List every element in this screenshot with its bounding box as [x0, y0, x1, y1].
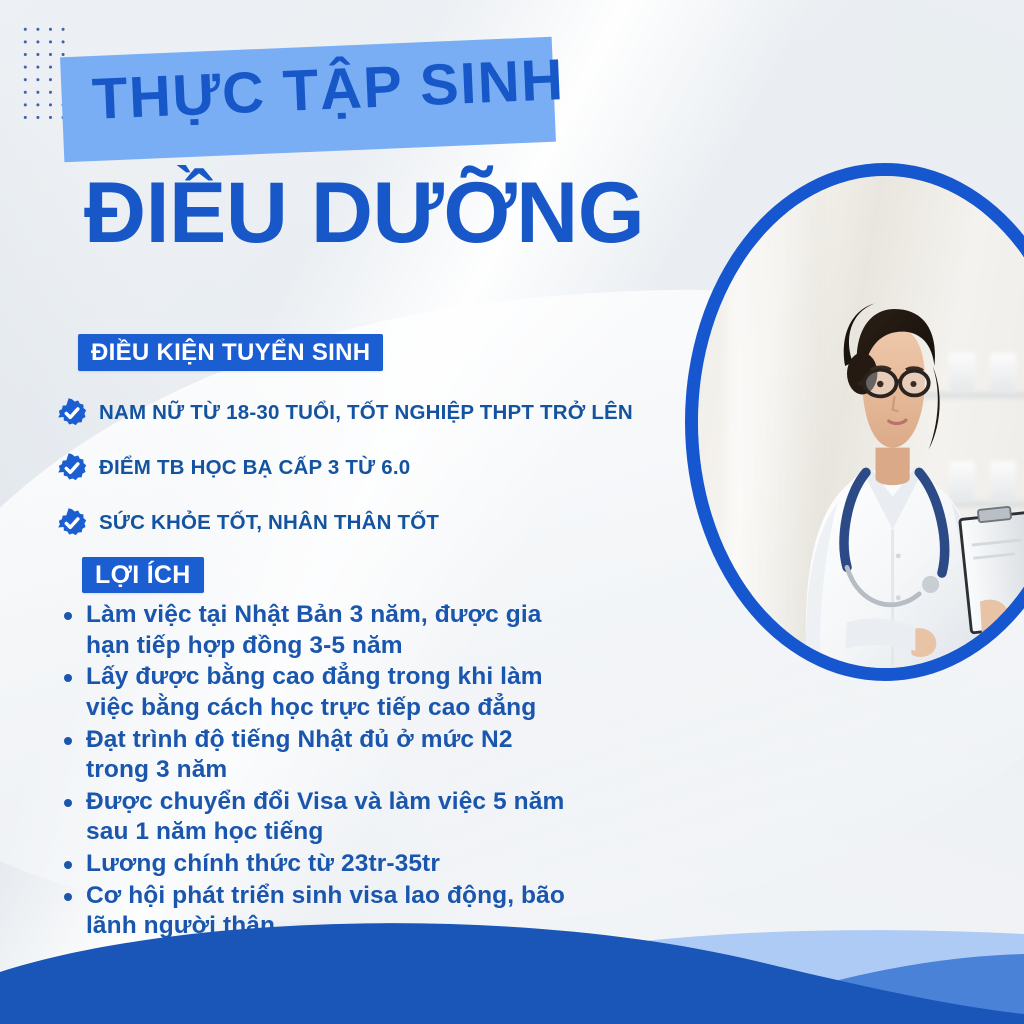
list-item: Đạt trình độ tiếng Nhật đủ ở mức N2 tron…	[52, 725, 572, 786]
check-badge-icon	[57, 453, 87, 483]
list-item: Lấy được bằng cao đẳng trong khi làm việ…	[52, 662, 572, 723]
page-title: ĐIỀU DƯỠNG	[84, 168, 644, 258]
check-badge-icon	[57, 398, 87, 428]
condition-text: NAM NỮ TỪ 18-30 TUỔI, TỐT NGHIỆP THPT TR…	[99, 401, 633, 425]
check-badge-icon	[57, 508, 87, 538]
conditions-list: NAM NỮ TỪ 18-30 TUỔI, TỐT NGHIỆP THPT TR…	[57, 385, 697, 550]
section-badge-benefits: LỢI ÍCH	[82, 557, 204, 593]
nurse-photo-frame	[685, 163, 1024, 681]
nurse-figure	[698, 176, 1024, 668]
list-item: SỨC KHỎE TỐT, NHÂN THÂN TỐT	[57, 495, 697, 550]
bottom-wave-decoration	[0, 824, 1024, 1024]
list-item: ĐIỂM TB HỌC BẠ CẤP 3 TỪ 6.0	[57, 440, 697, 495]
condition-text: ĐIỂM TB HỌC BẠ CẤP 3 TỪ 6.0	[99, 456, 410, 480]
list-item: NAM NỮ TỪ 18-30 TUỔI, TỐT NGHIỆP THPT TR…	[57, 385, 697, 440]
condition-text: SỨC KHỎE TỐT, NHÂN THÂN TỐT	[99, 511, 439, 535]
poster-canvas: THỰC TẬP SINH ĐIỀU DƯỠNG ĐIỀU KIỆN TUYỂN…	[0, 0, 1024, 1024]
section-badge-conditions: ĐIỀU KIỆN TUYỂN SINH	[78, 334, 383, 371]
nurse-photo	[698, 176, 1024, 668]
list-item: Làm việc tại Nhật Bản 3 năm, được gia hạ…	[52, 600, 572, 661]
